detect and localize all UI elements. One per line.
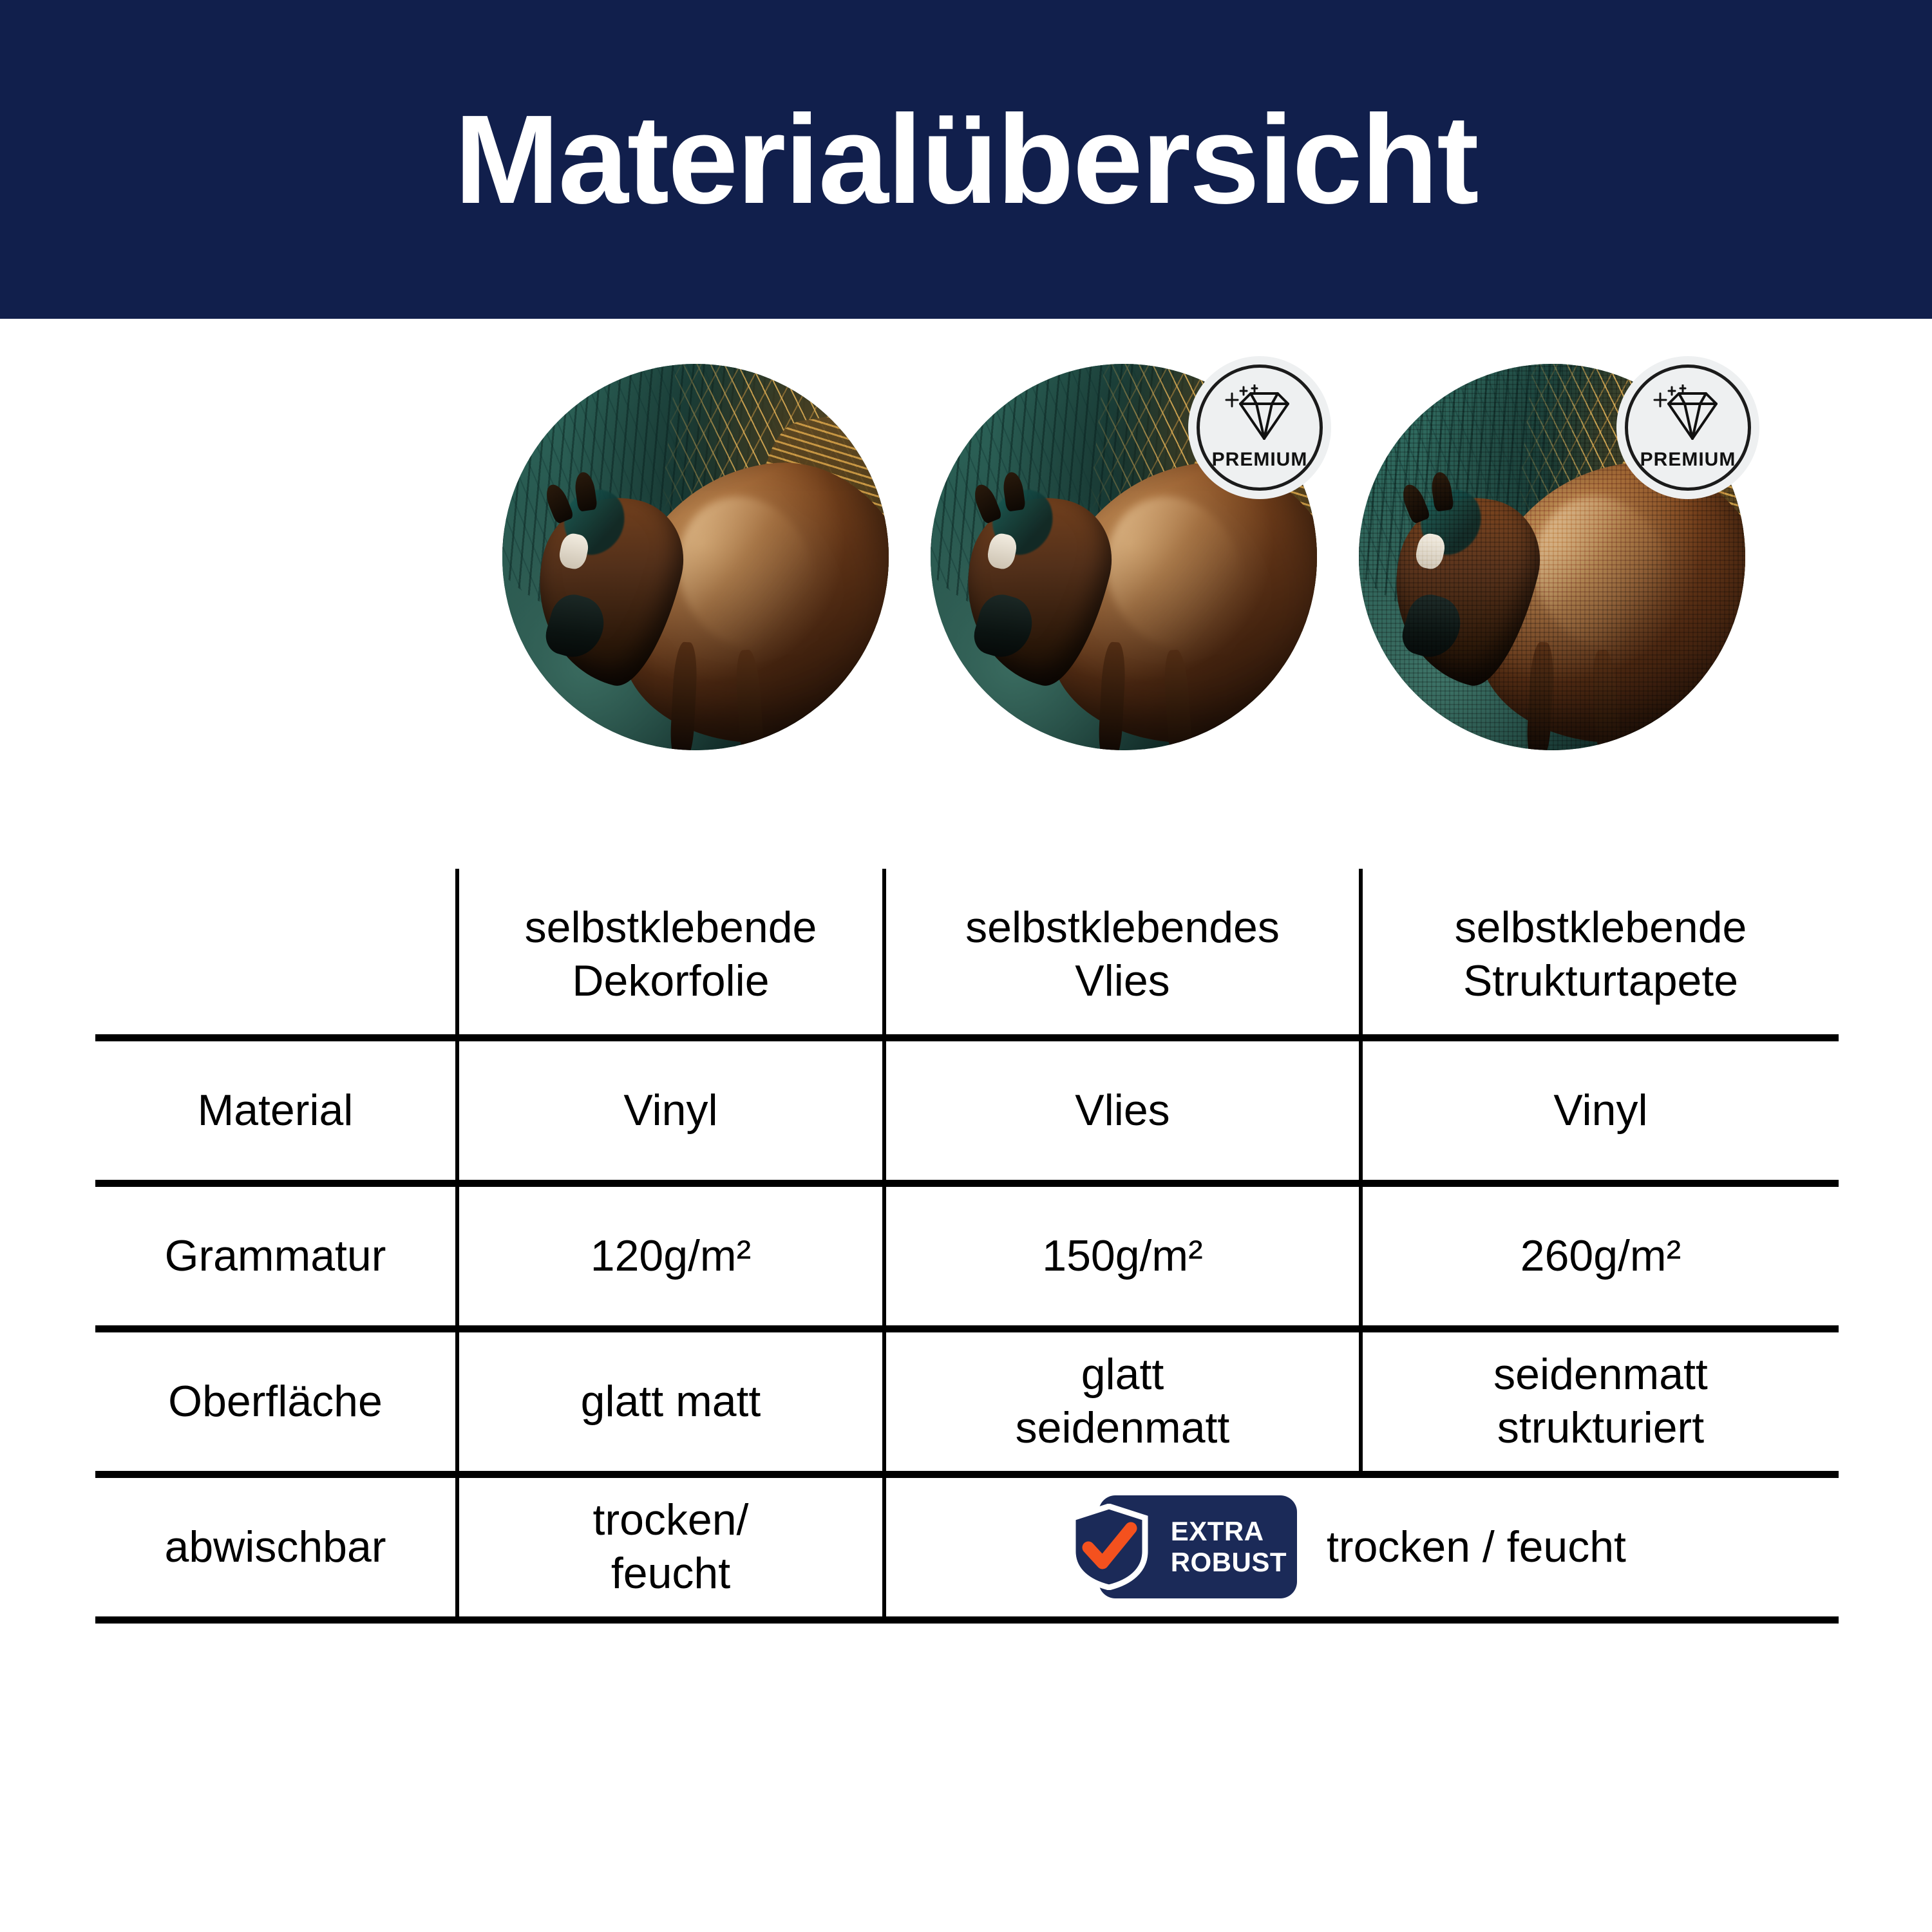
column-header-line1: selbstklebende <box>471 901 871 954</box>
table-corner-cell <box>95 869 457 1037</box>
column-header-dekorfolie: selbstklebende Dekorfolie <box>457 869 884 1037</box>
material-overview-page: Materialübersicht <box>0 0 1932 1932</box>
cell-grammatur-strukturtapete: 260g/m² <box>1361 1183 1839 1329</box>
shield-check-icon <box>1069 1504 1149 1590</box>
extra-robust-line2: ROBUST <box>1171 1549 1287 1576</box>
column-header-line2: Dekorfolie <box>471 954 871 1008</box>
cell-grammatur-dekorfolie: 120g/m² <box>457 1183 884 1329</box>
extra-robust-badge: EXTRA ROBUST <box>1099 1495 1297 1598</box>
column-header-line1: selbstklebende <box>1374 901 1827 954</box>
cell-oberflaeche-strukturtapete: seidenmattstrukturiert <box>1361 1329 1839 1474</box>
column-header-strukturtapete: selbstklebende Strukturtapete <box>1361 869 1839 1037</box>
cell-grammatur-vlies: 150g/m² <box>884 1183 1361 1329</box>
diamond-icon <box>1649 384 1727 446</box>
cell-material-strukturtapete: Vinyl <box>1361 1037 1839 1183</box>
cell-abwischbar-dekorfolie: trocken/feucht <box>457 1474 884 1620</box>
swatch-image-dekorfolie <box>502 364 889 750</box>
premium-badge-label: PREMIUM <box>1640 449 1736 471</box>
swatch-vlies[interactable]: PREMIUM <box>931 364 1317 750</box>
page-title: Materialübersicht <box>455 97 1478 223</box>
table-row: Oberfläche glatt matt glattseidenmatt se… <box>95 1329 1839 1474</box>
premium-badge-label: PREMIUM <box>1212 449 1308 471</box>
cell-abwischbar-vlies-strukturtapete: EXTRA ROBUST trocken / feucht <box>884 1474 1839 1620</box>
row-label-grammatur: Grammatur <box>95 1183 457 1329</box>
material-swatch-row: PREMIUM <box>0 364 1932 763</box>
column-header-line2: Strukturtapete <box>1374 954 1827 1008</box>
cell-abwischbar-text: trocken / feucht <box>1327 1520 1626 1574</box>
cell-oberflaeche-vlies: glattseidenmatt <box>884 1329 1361 1474</box>
table-row: abwischbar trocken/feucht EXTRA ROBUST <box>95 1474 1839 1620</box>
row-label-material: Material <box>95 1037 457 1183</box>
table-row: Material Vinyl Vlies Vinyl <box>95 1037 1839 1183</box>
column-header-vlies: selbstklebendes Vlies <box>884 869 1361 1037</box>
extra-robust-line1: EXTRA <box>1171 1518 1264 1545</box>
cell-material-dekorfolie: Vinyl <box>457 1037 884 1183</box>
premium-badge: PREMIUM <box>1616 356 1759 499</box>
row-label-abwischbar: abwischbar <box>95 1474 457 1620</box>
material-comparison-table: selbstklebende Dekorfolie selbstklebende… <box>95 869 1839 1624</box>
cell-oberflaeche-dekorfolie: glatt matt <box>457 1329 884 1474</box>
swatch-dekorfolie[interactable] <box>502 364 889 750</box>
premium-badge: PREMIUM <box>1188 356 1331 499</box>
diamond-icon <box>1221 384 1298 446</box>
table-row: Grammatur 120g/m² 150g/m² 260g/m² <box>95 1183 1839 1329</box>
swatch-strukturtapete[interactable]: PREMIUM <box>1359 364 1745 750</box>
cell-material-vlies: Vlies <box>884 1037 1361 1183</box>
column-header-line2: Vlies <box>898 954 1347 1008</box>
page-header: Materialübersicht <box>0 0 1932 319</box>
row-label-oberflaeche: Oberfläche <box>95 1329 457 1474</box>
column-header-line1: selbstklebendes <box>898 901 1347 954</box>
table-header-row: selbstklebende Dekorfolie selbstklebende… <box>95 869 1839 1037</box>
